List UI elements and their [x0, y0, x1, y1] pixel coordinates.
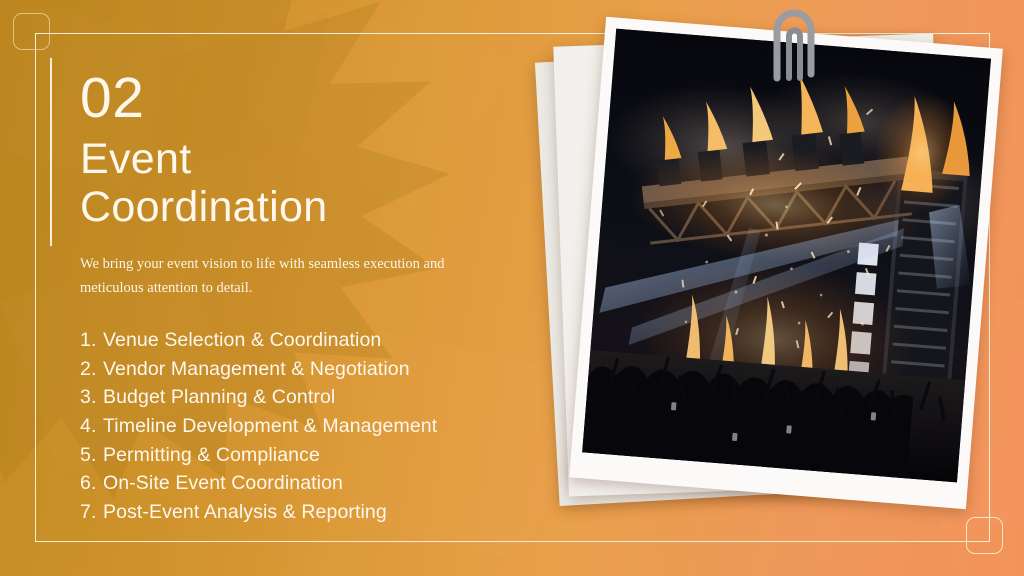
list-item: 6. On-Site Event Coordination: [80, 469, 510, 498]
page-title: Event Coordination: [80, 135, 510, 231]
title-line-1: Event: [80, 135, 191, 183]
list-item-label: Venue Selection & Coordination: [103, 326, 381, 355]
paperclip-icon: [755, 4, 833, 82]
concert-photo: [582, 29, 991, 483]
title-accent-line: [50, 58, 52, 246]
list-item: 7. Post-Event Analysis & Reporting: [80, 498, 510, 527]
list-item-label: Permitting & Compliance: [103, 441, 320, 470]
photo-stack: [533, 30, 1003, 530]
subtitle-text: We bring your event vision to life with …: [80, 253, 482, 300]
list-item-label: Vendor Management & Negotiation: [103, 355, 410, 384]
list-item-number: 7.: [80, 498, 103, 527]
polaroid-front: [569, 17, 1003, 509]
list-item: 1. Venue Selection & Coordination: [80, 326, 510, 355]
list-item-number: 1.: [80, 326, 103, 355]
list-item-number: 2.: [80, 355, 103, 384]
list-item-label: Timeline Development & Management: [103, 412, 437, 441]
title-line-2: Coordination: [80, 183, 510, 231]
content-column: 02 Event Coordination We bring your even…: [80, 70, 510, 526]
section-number: 02: [80, 70, 510, 127]
service-list: 1. Venue Selection & Coordination 2. Ven…: [80, 326, 510, 526]
list-item: 2. Vendor Management & Negotiation: [80, 355, 510, 384]
list-item-label: Budget Planning & Control: [103, 383, 335, 412]
list-item-number: 3.: [80, 383, 103, 412]
list-item: 3. Budget Planning & Control: [80, 383, 510, 412]
slide-root: 02 Event Coordination We bring your even…: [0, 0, 1024, 576]
list-item-label: On-Site Event Coordination: [103, 469, 343, 498]
list-item-number: 6.: [80, 469, 103, 498]
list-item-number: 4.: [80, 412, 103, 441]
list-item-label: Post-Event Analysis & Reporting: [103, 498, 387, 527]
list-item: 5. Permitting & Compliance: [80, 441, 510, 470]
list-item-number: 5.: [80, 441, 103, 470]
list-item: 4. Timeline Development & Management: [80, 412, 510, 441]
